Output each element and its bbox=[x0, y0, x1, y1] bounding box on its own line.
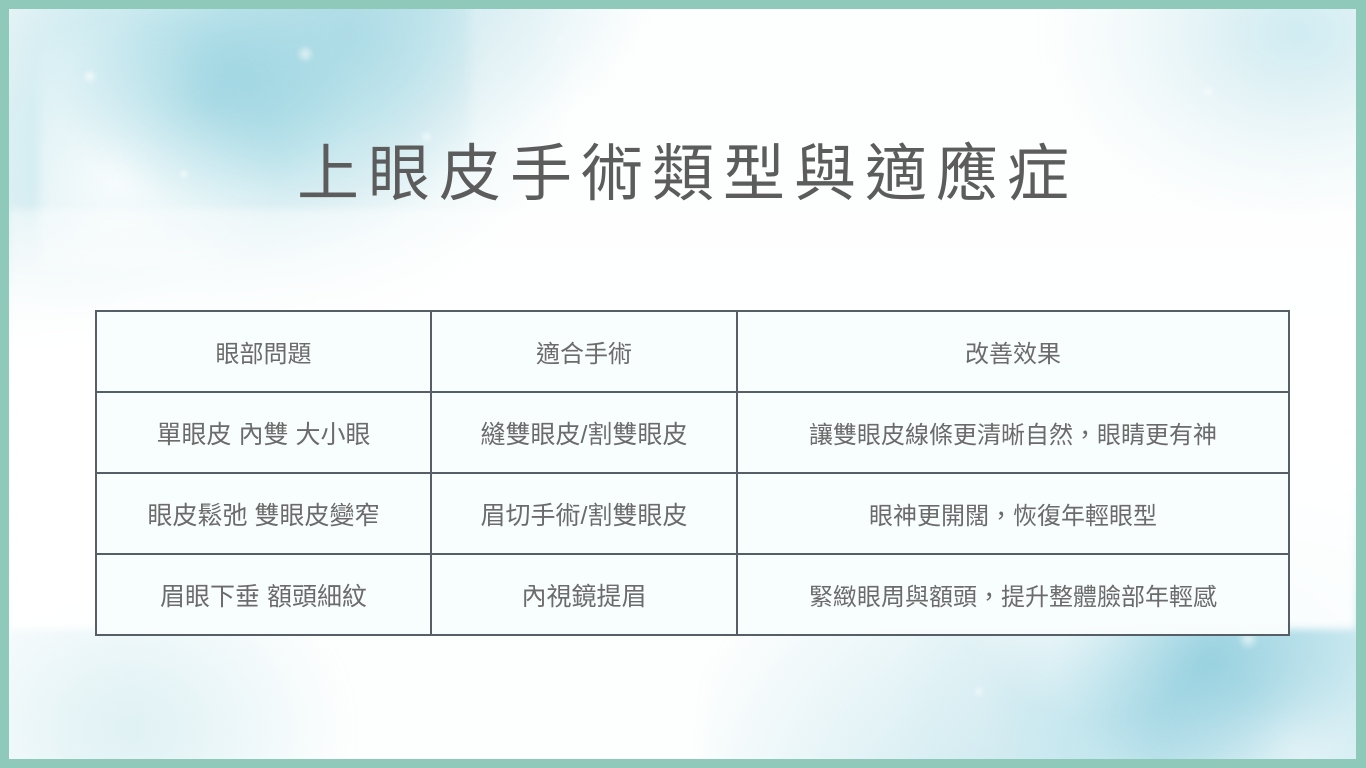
column-header-effect: 改善效果 bbox=[737, 311, 1289, 392]
column-header-surgery: 適合手術 bbox=[431, 311, 737, 392]
cell-effect: 讓雙眼皮線條更清晰自然，眼睛更有神 bbox=[737, 392, 1289, 473]
cell-surgery: 內視鏡提眉 bbox=[431, 554, 737, 635]
cell-surgery: 眉切手術/割雙眼皮 bbox=[431, 473, 737, 554]
cell-effect: 眼神更開闊，恢復年輕眼型 bbox=[737, 473, 1289, 554]
page-title: 上眼皮手術類型與適應症 bbox=[0, 140, 1366, 211]
table-header-row: 眼部問題 適合手術 改善效果 bbox=[96, 311, 1289, 392]
table-row: 單眼皮 內雙 大小眼 縫雙眼皮/割雙眼皮 讓雙眼皮線條更清晰自然，眼睛更有神 bbox=[96, 392, 1289, 473]
surgery-indication-table: 眼部問題 適合手術 改善效果 單眼皮 內雙 大小眼 縫雙眼皮/割雙眼皮 讓雙眼皮… bbox=[95, 310, 1290, 636]
cell-surgery: 縫雙眼皮/割雙眼皮 bbox=[431, 392, 737, 473]
slide-canvas: 上眼皮手術類型與適應症 眼部問題 適合手術 改善效果 單眼皮 內雙 大小眼 縫雙… bbox=[0, 0, 1366, 768]
cell-problem: 單眼皮 內雙 大小眼 bbox=[96, 392, 431, 473]
table-row: 眉眼下垂 額頭細紋 內視鏡提眉 緊緻眼周與額頭，提升整體臉部年輕感 bbox=[96, 554, 1289, 635]
slide-border-right bbox=[1356, 0, 1366, 768]
cell-problem: 眼皮鬆弛 雙眼皮變窄 bbox=[96, 473, 431, 554]
column-header-problem: 眼部問題 bbox=[96, 311, 431, 392]
cell-problem: 眉眼下垂 額頭細紋 bbox=[96, 554, 431, 635]
slide-border-top bbox=[0, 0, 1366, 9]
slide-border-left bbox=[0, 0, 9, 768]
slide-content: 上眼皮手術類型與適應症 眼部問題 適合手術 改善效果 單眼皮 內雙 大小眼 縫雙… bbox=[0, 0, 1366, 768]
slide-border-bottom bbox=[0, 759, 1366, 768]
table-row: 眼皮鬆弛 雙眼皮變窄 眉切手術/割雙眼皮 眼神更開闊，恢復年輕眼型 bbox=[96, 473, 1289, 554]
cell-effect: 緊緻眼周與額頭，提升整體臉部年輕感 bbox=[737, 554, 1289, 635]
